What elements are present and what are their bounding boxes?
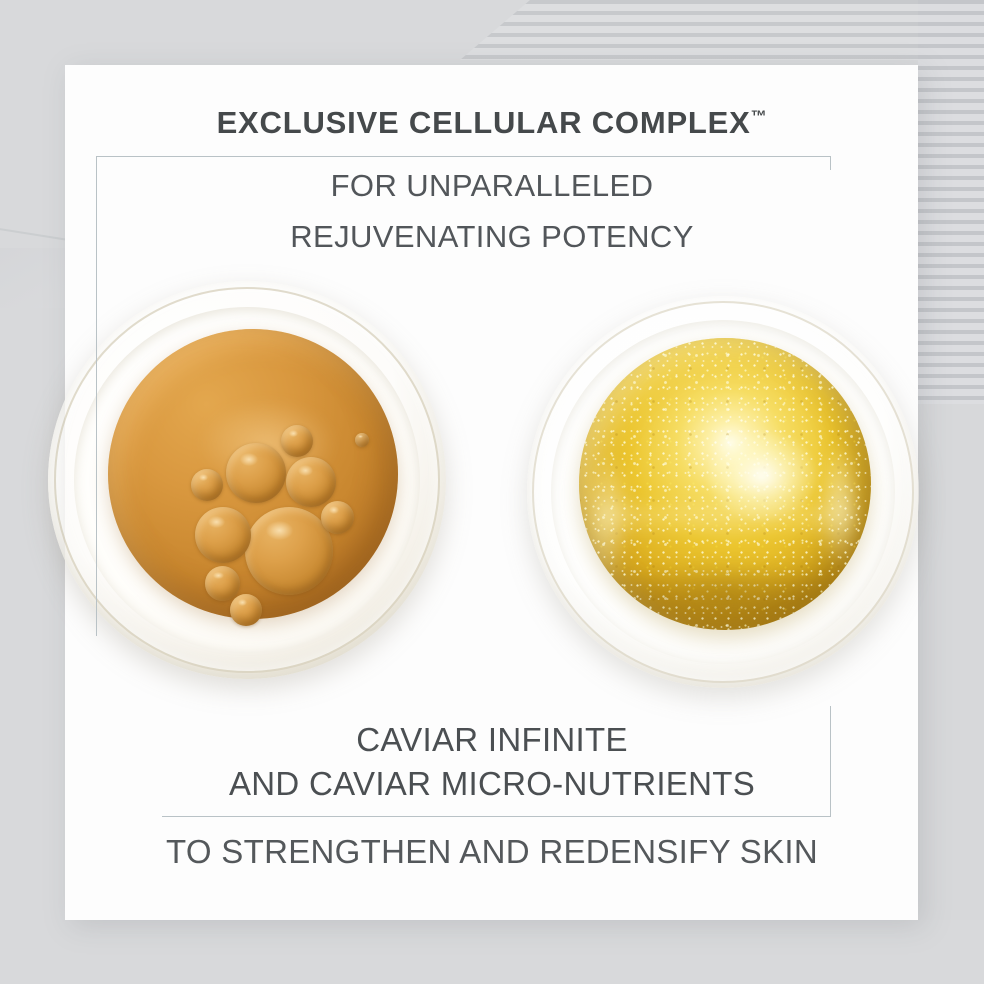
ingredient-dish-left bbox=[48, 281, 446, 679]
frame-line-top bbox=[96, 156, 831, 157]
headline-text: EXCLUSIVE CELLULAR COMPLEX bbox=[217, 105, 751, 140]
background-bottom-band bbox=[0, 920, 984, 984]
oil-bubble bbox=[191, 469, 223, 501]
headline: EXCLUSIVE CELLULAR COMPLEX™ bbox=[0, 105, 984, 141]
oil-bubble bbox=[226, 443, 286, 503]
ingredient-dish-right bbox=[527, 296, 919, 688]
oil-bubble bbox=[281, 425, 313, 457]
oil-bubble bbox=[205, 566, 240, 601]
subhead-line-2: REJUVENATING POTENCY bbox=[0, 219, 984, 255]
amber-oil-pool bbox=[108, 329, 398, 619]
footer-line-3: TO STRENGTHEN AND REDENSIFY SKIN bbox=[0, 833, 984, 871]
oil-bubble bbox=[230, 594, 262, 626]
oil-bubble bbox=[286, 457, 336, 507]
sphere-light-band bbox=[597, 507, 854, 537]
background-right-panel bbox=[918, 404, 984, 984]
gold-glitter-sphere bbox=[579, 338, 871, 630]
oil-bubble bbox=[355, 433, 369, 447]
oil-bubble bbox=[321, 501, 354, 534]
sphere-edge-highlight-right bbox=[818, 443, 862, 568]
trademark-symbol: ™ bbox=[751, 109, 768, 126]
frame-line-bottom bbox=[162, 816, 831, 817]
sphere-bottom-shadow bbox=[608, 560, 842, 630]
footer-line-1: CAVIAR INFINITE bbox=[0, 721, 984, 759]
footer-line-2: AND CAVIAR MICRO-NUTRIENTS bbox=[0, 765, 984, 803]
oil-bubble bbox=[195, 507, 251, 563]
subhead-line-1: FOR UNPARALLELED bbox=[0, 168, 984, 204]
oil-bubble bbox=[245, 507, 333, 595]
